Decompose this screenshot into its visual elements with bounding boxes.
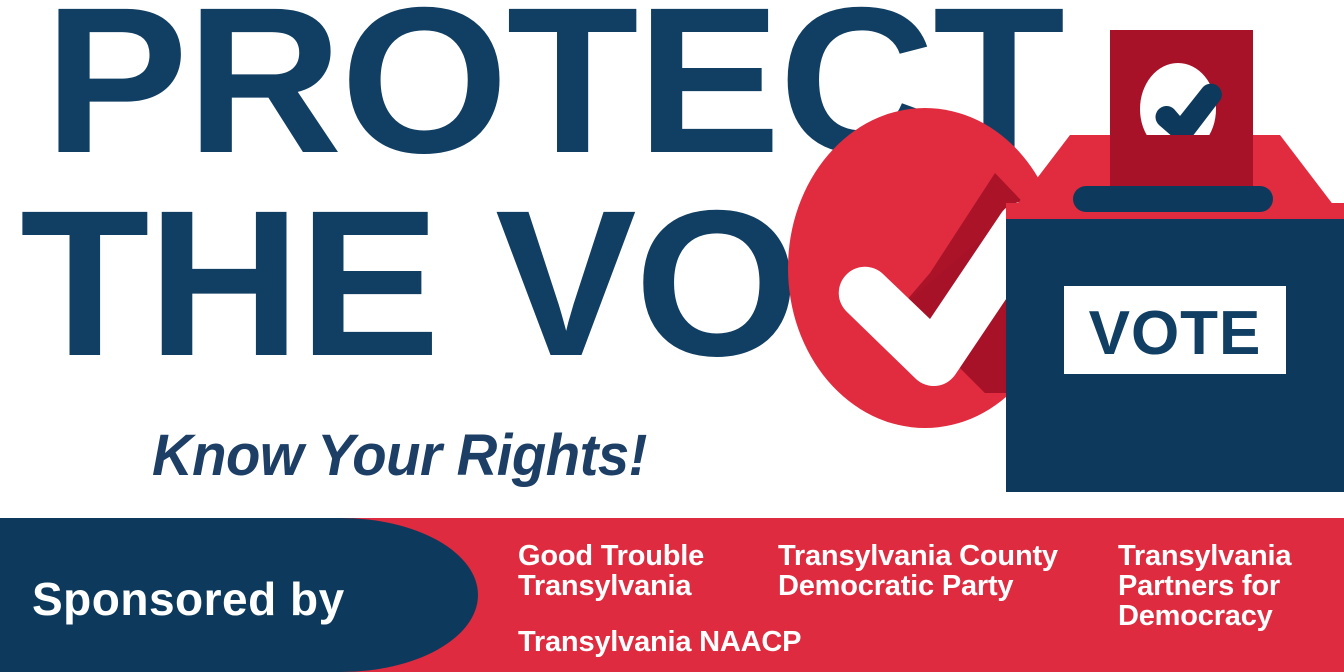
tagline: Know Your Rights!: [152, 422, 647, 489]
headline-block: PROTECT THE VOTE! Know Your Rights!: [0, 0, 790, 510]
sponsor-item: Transylvania County Democratic Party: [778, 542, 1118, 602]
ballot-slot-icon: [1073, 186, 1273, 212]
vote-artwork: VOTE: [780, 18, 1344, 510]
sponsor-list: Good Trouble Transylvania Transylvania C…: [516, 540, 1336, 672]
ballot-box-body: VOTE: [1006, 219, 1344, 492]
sponsor-item: Transylvania NAACP: [518, 628, 948, 658]
poster-canvas: PROTECT THE VOTE! Know Your Rights!: [0, 0, 1344, 672]
sponsor-item: Good Trouble Transylvania: [518, 542, 768, 602]
sponsored-by-label: Sponsored by: [32, 572, 345, 626]
sponsor-item: Transylvania Partners for Democracy: [1118, 542, 1338, 632]
ballot-box-vote-label: VOTE: [1089, 299, 1262, 368]
